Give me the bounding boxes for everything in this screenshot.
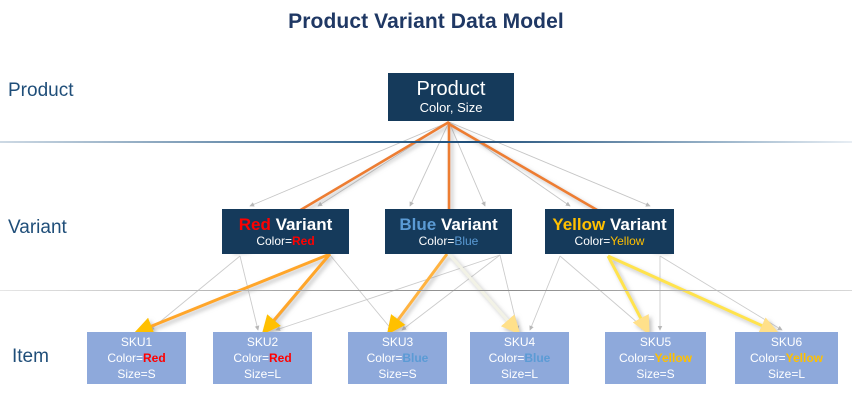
- node-item-sku6[interactable]: SKU6 Color=Yellow Size=L: [735, 332, 838, 384]
- node-variant-blue[interactable]: Blue Variant Color=Blue: [385, 209, 512, 254]
- node-variant-red-attribute: Color=Red: [256, 234, 314, 249]
- item-sku2-size: Size=L: [244, 366, 281, 382]
- item-sku2-size-value: L: [274, 367, 281, 381]
- variant-blue-color-word: Blue: [399, 215, 436, 234]
- node-item-sku2[interactable]: SKU2 Color=Red Size=L: [213, 332, 312, 384]
- node-variant-yellow-title: Yellow Variant: [552, 215, 666, 234]
- item-sku2-color-value: Red: [269, 351, 292, 365]
- item-sku2-color-key: Color=: [233, 351, 269, 365]
- item-sku6-color-value: Yellow: [786, 351, 823, 365]
- variant-red-suffix: Variant: [276, 215, 333, 234]
- item-sku4-size-key: Size=: [501, 367, 531, 381]
- node-variant-blue-attribute: Color=Blue: [419, 234, 479, 249]
- item-sku1-size: Size=S: [117, 366, 155, 382]
- variant-yellow-attr-key: Color=: [575, 234, 611, 248]
- item-sku3-size-key: Size=: [378, 367, 408, 381]
- divider-product-variant: [0, 141, 852, 143]
- item-sku5-size-value: S: [667, 367, 675, 381]
- item-sku1-color-key: Color=: [107, 351, 143, 365]
- node-variant-yellow[interactable]: Yellow Variant Color=Yellow: [545, 209, 674, 254]
- item-sku5-color-key: Color=: [619, 351, 655, 365]
- item-sku5-label: SKU5: [640, 335, 671, 350]
- node-item-sku3[interactable]: SKU3 Color=Blue Size=S: [348, 332, 447, 384]
- item-sku5-size-key: Size=: [636, 367, 666, 381]
- item-sku4-size: Size=L: [501, 366, 538, 382]
- item-sku6-color: Color=Yellow: [750, 350, 823, 366]
- variant-red-color-word: Red: [239, 215, 271, 234]
- row-label-product: Product: [8, 80, 73, 102]
- node-variant-red-title: Red Variant: [239, 215, 333, 234]
- node-variant-yellow-attribute: Color=Yellow: [575, 234, 645, 249]
- item-sku3-color-value: Blue: [402, 351, 428, 365]
- item-sku4-size-value: L: [531, 367, 538, 381]
- page-title: Product Variant Data Model: [0, 10, 852, 34]
- item-sku3-size: Size=S: [378, 366, 416, 382]
- node-item-sku4[interactable]: SKU4 Color=Blue Size=L: [470, 332, 569, 384]
- node-product-title: Product: [417, 79, 486, 100]
- node-item-sku5[interactable]: SKU5 Color=Yellow Size=S: [605, 332, 706, 384]
- variant-blue-attr-key: Color=: [419, 234, 455, 248]
- divider-variant-item: [0, 290, 852, 291]
- diagram-canvas: Product Variant Data Model Product Varia…: [0, 0, 852, 413]
- item-sku4-color: Color=Blue: [489, 350, 551, 366]
- item-sku5-color-value: Yellow: [655, 351, 692, 365]
- item-sku6-size: Size=L: [768, 366, 805, 382]
- item-sku1-label: SKU1: [121, 335, 152, 350]
- item-sku3-label: SKU3: [382, 335, 413, 350]
- item-sku1-color-value: Red: [143, 351, 166, 365]
- item-sku5-color: Color=Yellow: [619, 350, 692, 366]
- node-product[interactable]: Product Color, Size: [388, 73, 514, 121]
- item-sku6-color-key: Color=: [750, 351, 786, 365]
- variant-red-attr-key: Color=: [256, 234, 292, 248]
- variant-yellow-color-word: Yellow: [552, 215, 605, 234]
- item-sku2-label: SKU2: [247, 335, 278, 350]
- node-variant-red[interactable]: Red Variant Color=Red: [222, 209, 349, 254]
- variant-red-attr-value: Red: [292, 234, 315, 248]
- item-sku4-label: SKU4: [504, 335, 535, 350]
- row-label-variant: Variant: [8, 217, 67, 239]
- item-sku3-size-value: S: [409, 367, 417, 381]
- variant-blue-suffix: Variant: [441, 215, 498, 234]
- item-sku2-color: Color=Red: [233, 350, 291, 366]
- item-sku4-color-key: Color=: [489, 351, 525, 365]
- variant-blue-attr-value: Blue: [454, 234, 478, 248]
- item-sku6-size-value: L: [798, 367, 805, 381]
- node-product-attributes: Color, Size: [420, 100, 483, 116]
- item-sku4-color-value: Blue: [524, 351, 550, 365]
- row-label-item: Item: [12, 346, 49, 368]
- item-sku6-label: SKU6: [771, 335, 802, 350]
- variant-yellow-suffix: Variant: [610, 215, 667, 234]
- item-sku1-size-value: S: [148, 367, 156, 381]
- node-variant-blue-title: Blue Variant: [399, 215, 497, 234]
- variant-yellow-attr-value: Yellow: [610, 234, 644, 248]
- item-sku1-color: Color=Red: [107, 350, 165, 366]
- item-sku6-size-key: Size=: [768, 367, 798, 381]
- node-item-sku1[interactable]: SKU1 Color=Red Size=S: [87, 332, 186, 384]
- item-sku3-color-key: Color=: [367, 351, 403, 365]
- item-sku5-size: Size=S: [636, 366, 674, 382]
- item-sku2-size-key: Size=: [244, 367, 274, 381]
- item-sku1-size-key: Size=: [117, 367, 147, 381]
- item-sku3-color: Color=Blue: [367, 350, 429, 366]
